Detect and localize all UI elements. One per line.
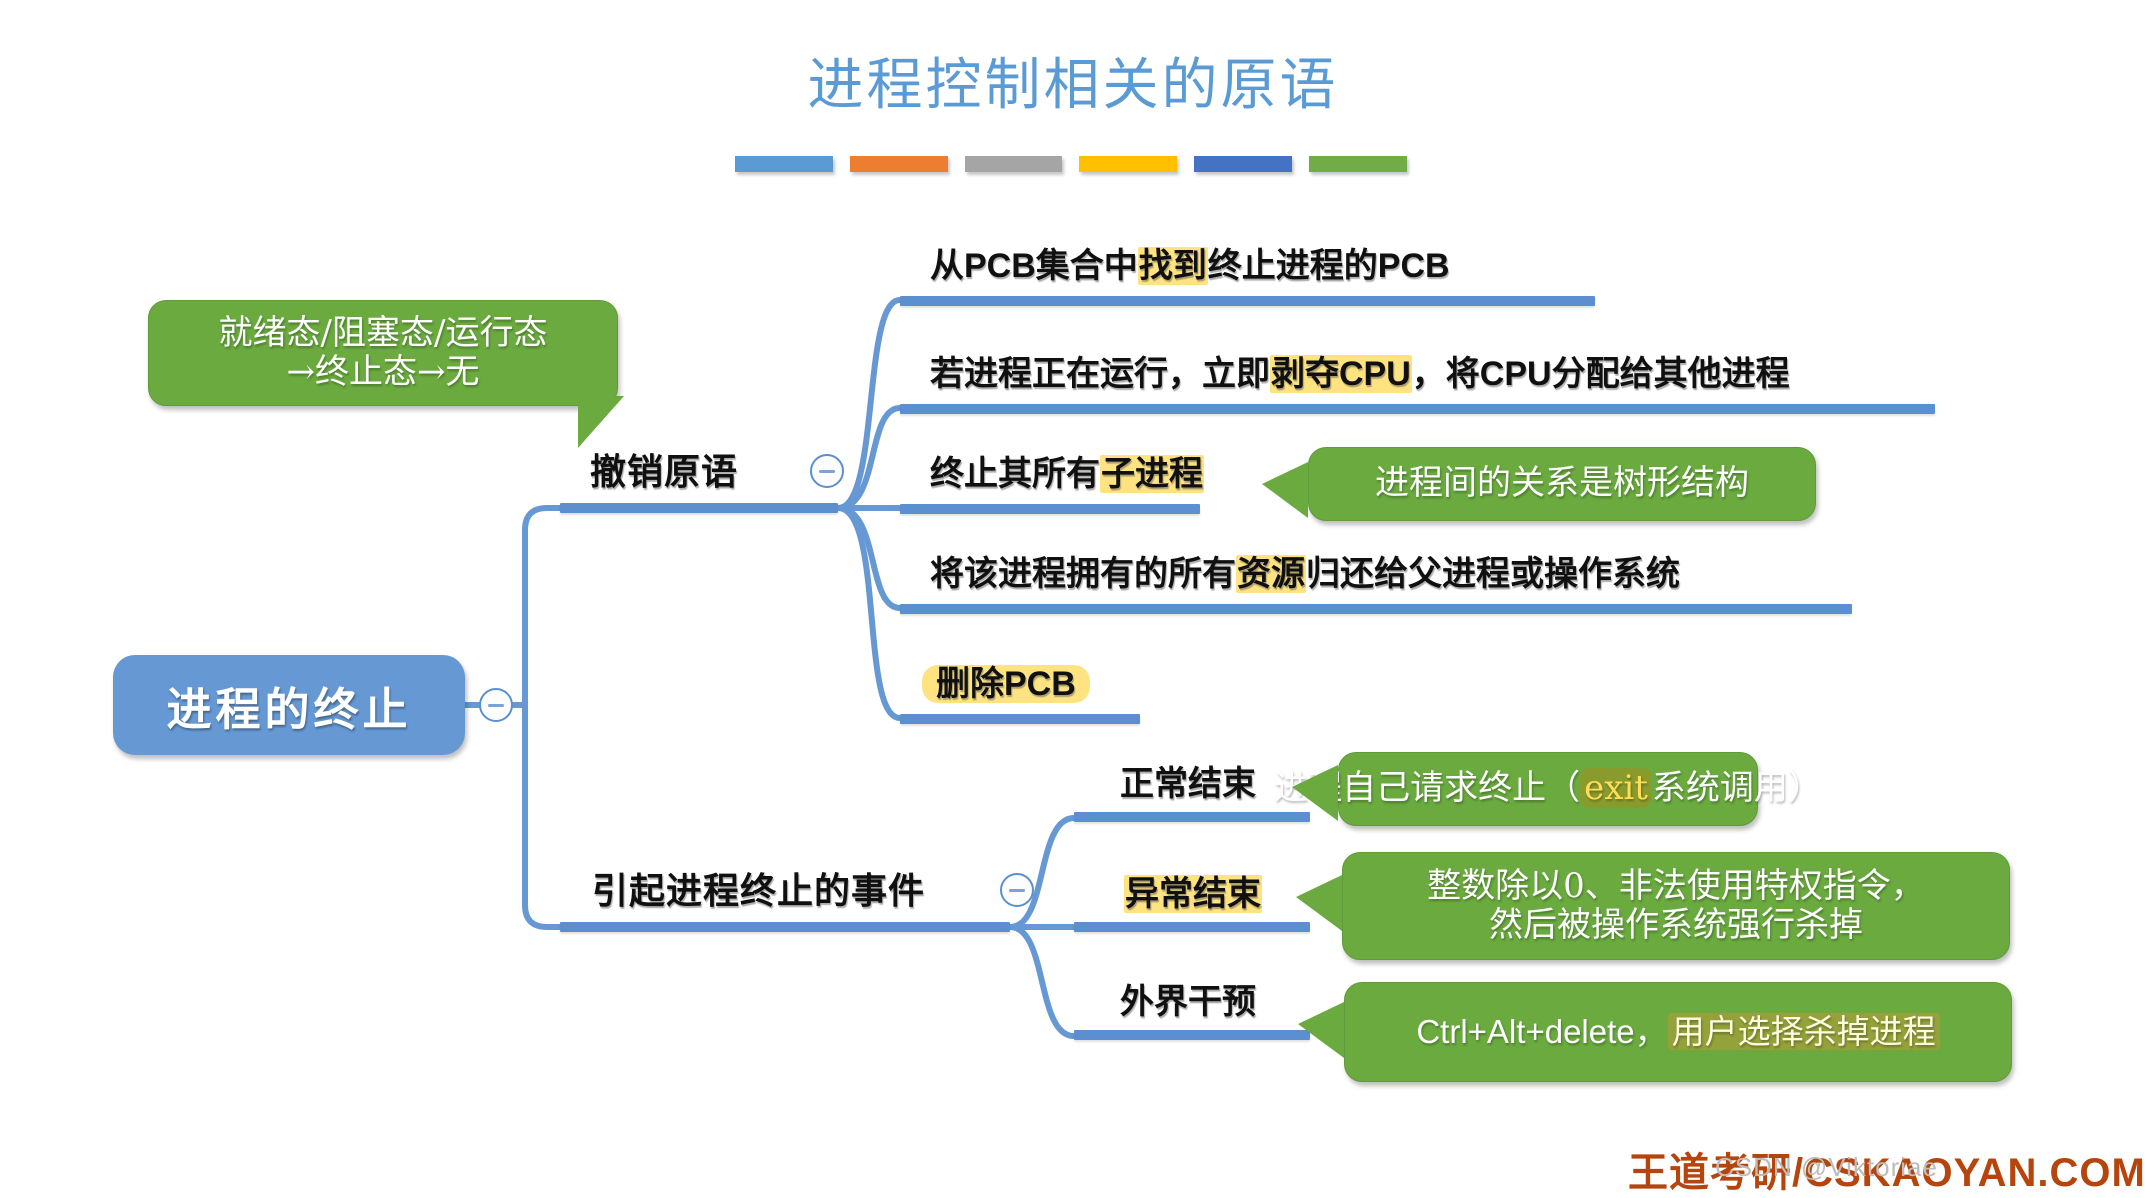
leaf-node-abnormal-exit[interactable]: 异常结束 <box>1124 866 1262 915</box>
leaf-label-preempt-cpu: 若进程正在运行，立即剥夺CPU，将CPU分配给其他进程 <box>930 346 1790 395</box>
callout-tree-structure-text: 进程间的关系是树形结构 <box>1361 464 1763 503</box>
branch-node-termination-events[interactable]: 引起进程终止的事件 <box>592 862 925 914</box>
callout-tree-structure: 进程间的关系是树形结构 <box>1308 447 1816 521</box>
leaf-underline-delete-pcb <box>900 714 1140 724</box>
leaf-node-external-intervention[interactable]: 外界干预 <box>1120 974 1256 1023</box>
leaf-underline-find-pcb <box>900 296 1595 306</box>
callout-abnormal-reasons: 整数除以0、非法使用特权指令， 然后被操作系统强行杀掉 <box>1342 852 2010 960</box>
callout-state-transition-text: 就绪态/阻塞态/运行态 →终止态→无 <box>205 314 562 393</box>
callout-external-intervention-tail <box>1298 1002 1344 1058</box>
leaf-node-preempt-cpu[interactable]: 若进程正在运行，立即剥夺CPU，将CPU分配给其他进程 <box>930 346 1790 395</box>
root-node-label: 进程的终止 <box>166 673 411 738</box>
branch-underline-termination-events <box>560 922 1010 932</box>
leaf-label-abnormal-exit: 异常结束 <box>1124 866 1262 915</box>
leaf-label-delete-pcb: 删除PCB <box>922 656 1090 705</box>
leaf-label-external-intervention: 外界干预 <box>1120 974 1256 1023</box>
branch-label-revoke-primitive: 撤销原语 <box>590 443 738 495</box>
callout-external-intervention: Ctrl+Alt+delete，用户选择杀掉进程 <box>1344 982 2012 1082</box>
leaf-node-return-resources[interactable]: 将该进程拥有的所有资源归还给父进程或操作系统 <box>930 546 1680 595</box>
leaf-label-return-resources: 将该进程拥有的所有资源归还给父进程或操作系统 <box>930 546 1680 595</box>
collapse-toggle-termination-events[interactable] <box>1000 873 1034 907</box>
callout-tree-structure-tail <box>1262 462 1308 518</box>
branch-node-revoke-primitive[interactable]: 撤销原语 <box>590 443 738 495</box>
collapse-toggle-root[interactable] <box>479 688 513 722</box>
leaf-underline-abnormal-exit <box>1074 922 1310 932</box>
callout-state-transition: 就绪态/阻塞态/运行态 →终止态→无 <box>148 300 618 406</box>
leaf-node-normal-exit[interactable]: 正常结束 <box>1120 756 1256 805</box>
leaf-label-kill-children: 终止其所有子进程 <box>930 446 1204 495</box>
leaf-underline-preempt-cpu <box>900 404 1935 414</box>
callout-external-intervention-text: Ctrl+Alt+delete，用户选择杀掉进程 <box>1402 1013 1953 1051</box>
leaf-node-kill-children[interactable]: 终止其所有子进程 <box>930 446 1204 495</box>
leaf-label-find-pcb: 从PCB集合中找到终止进程的PCB <box>930 238 1450 287</box>
callout-abnormal-reasons-text: 整数除以0、非法使用特权指令， 然后被操作系统强行杀掉 <box>1413 867 1939 946</box>
branch-label-termination-events: 引起进程终止的事件 <box>592 862 925 914</box>
leaf-node-delete-pcb[interactable]: 删除PCB <box>922 656 1090 705</box>
branch-underline-revoke-primitive <box>560 503 838 513</box>
callout-exit-syscall-text: 进程自己请求终止（exit系统调用） <box>1260 769 1836 808</box>
root-node[interactable]: 进程的终止 <box>113 655 465 755</box>
footer-watermark: CSDN @Viktoriae <box>1715 1152 1938 1183</box>
leaf-underline-external-intervention <box>1074 1030 1310 1040</box>
callout-state-transition-tail <box>578 396 624 448</box>
leaf-underline-normal-exit <box>1074 812 1310 822</box>
callout-abnormal-reasons-tail <box>1296 875 1342 931</box>
leaf-underline-return-resources <box>900 604 1852 614</box>
callout-exit-syscall: 进程自己请求终止（exit系统调用） <box>1338 752 1758 826</box>
leaf-node-find-pcb[interactable]: 从PCB集合中找到终止进程的PCB <box>930 238 1450 287</box>
collapse-toggle-revoke-primitive[interactable] <box>810 454 844 488</box>
leaf-underline-kill-children <box>900 504 1200 514</box>
leaf-label-normal-exit: 正常结束 <box>1120 756 1256 805</box>
mindmap-canvas: 进程控制相关的原语 <box>0 0 2146 1198</box>
callout-exit-syscall-tail <box>1292 765 1338 821</box>
